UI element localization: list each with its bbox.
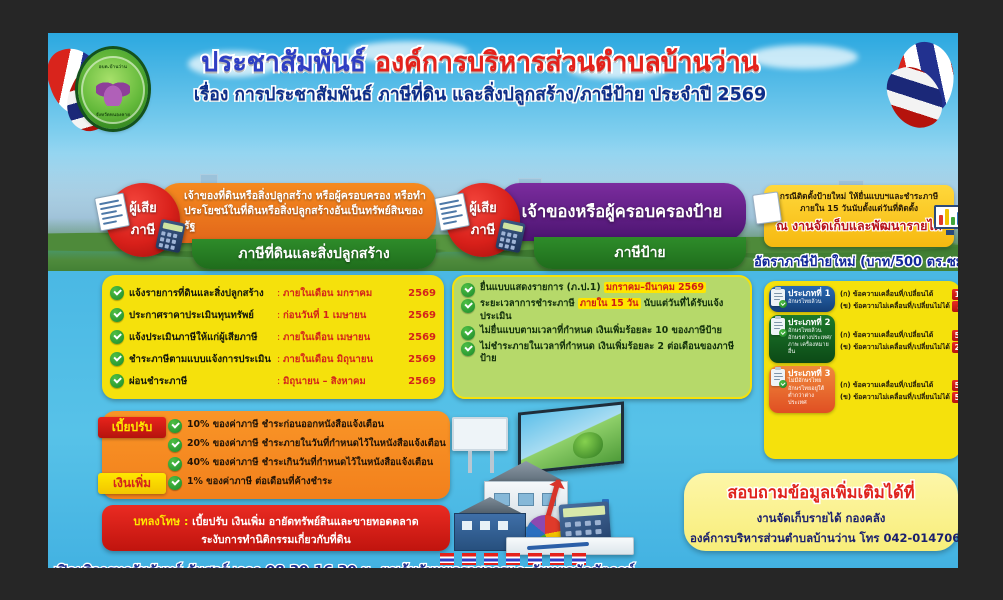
rule-text-pre: ยื่นแบบแสดงรายการ (ภ.ป.1) [480,282,604,293]
check-icon [168,419,182,433]
office-hours-text: เปิดบริการทุกวันจันทร์-วันศุกร์ เวลา 08.… [54,559,635,568]
rate-table-title: อัตราภาษีป้ายใหม่ (บาท/500 ตร.ซม.) [754,251,958,272]
rule-highlight: ภายใน 15 วัน [578,298,641,309]
fine-label-badge: เบี้ยปรับ [98,417,166,438]
check-icon [461,283,475,297]
check-icon [168,438,182,452]
list-item: ไม่ยื่นแบบตามเวลาที่กำหนด เงินเพิ่มร้อยล… [461,325,743,340]
rate-item-text: (ก) ข้อความเคลื่อนที่/เปลี่ยนได้ [840,380,950,391]
notice-line-1: กรณีติดตั้งป้ายใหม่ ให้ยื่นแบบฯและชำระภา… [768,190,950,202]
schedule-label: ผ่อนชำระภาษี [129,374,277,389]
penalty-text: 1% ของค่าภาษี ต่อเดือนที่ค้างชำระ [187,476,332,488]
title-part-2: องค์การบริหารส่วนตำบลบ้านว่าน [375,47,759,78]
rate-type-name: ประเภทที่ 3 [788,369,832,379]
check-icon [168,457,182,471]
schedule-date: ภายในเดือน มกราคม [283,286,404,301]
schedule-date: ก่อนวันที่ 1 เมษายน [283,308,404,323]
rule-text-pre: ไม่ชำระภายในเวลาที่กำหนด เงินเพิ่มร้อยละ… [480,341,734,365]
table-row: แจ้งรายการที่ดินและสิ่งปลูกสร้าง : ภายใน… [110,282,436,304]
rate-item-text: (ข) ข้อความไม่เคลื่อนที่/เปลี่ยนไม่ได้ [840,392,950,403]
rate-item: (ข) ข้อความไม่เคลื่อนที่/เปลี่ยนไม่ได้ 5… [840,392,958,404]
schedule-year: 2569 [404,288,436,299]
sign-tax-payer-banner: เจ้าของหรือผู้ครอบครองป้าย ภาษีป้าย ผู้เ… [446,183,746,271]
poster-canvas: อบต.บ้านว่าน จังหวัดหนองคาย ประชาสัมพันธ… [48,33,958,568]
rate-item-text: (ข) ข้อความไม่เคลื่อนที่/เปลี่ยนไม่ได้ [840,301,950,312]
organization-logo: อบต.บ้านว่าน จังหวัดหนองคาย [70,45,156,135]
document-icon [752,191,782,224]
rate-item-text: (ก) ข้อความเคลื่อนที่/เปลี่ยนได้ [840,289,950,300]
rate-item: (ข) ข้อความไม่เคลื่อนที่/เปลี่ยนไม่ได้ 2… [840,341,958,353]
schedule-year: 2569 [404,310,436,321]
list-item: 40% ของค่าภาษี ชำระเกินวันที่กำหนดไว้ในห… [168,457,433,471]
check-icon [461,299,475,313]
land-tax-type-label: ภาษีที่ดินและสิ่งปลูกสร้าง [192,239,436,269]
punishment-panel: บทลงโทษ : เบี้ยปรับ เงินเพิ่ม อายัดทรัพย… [102,505,450,551]
check-icon [110,374,124,388]
notice-line-2: ภายใน 15 วันนับตั้งแต่วันที่ติดตั้ง [768,202,950,214]
surcharge-label-badge: เงินเพิ่ม [98,473,166,494]
rate-item-value: 5 [952,301,958,312]
sign-payer-description: เจ้าของหรือผู้ครอบครองป้าย [498,183,746,241]
list-item: 20% ของค่าภาษี ชำระภายในวันที่กำหนดไว้ใน… [168,438,446,452]
rate-item-value: 52 [952,330,958,341]
office-hours-bar: เปิดบริการทุกวันจันทร์-วันศุกร์ เวลา 08.… [48,555,958,568]
page-subtitle: เรื่อง การประชาสัมพันธ์ ภาษีที่ดิน และสิ… [160,80,800,108]
calculator-icon [495,219,526,254]
punishment-label: บทลงโทษ : [133,515,188,528]
document-icon [434,192,470,231]
rate-type-3: ประเภทที่ 3 ไม่มีอักษรไทย อักษรไทยอยู่ใต… [769,366,835,414]
list-item: 1% ของค่าภาษี ต่อเดือนที่ค้างชำระ [168,476,332,490]
list-item: ระยะเวลาการชำระภาษี ภายใน 15 วัน นับแต่ว… [461,298,743,324]
rate-type-name: ประเภทที่ 1 [788,289,832,299]
schedule-date: ภายในเดือน เมษายน [283,330,404,345]
table-row: ประเภทที่ 3 ไม่มีอักษรไทย อักษรไทยอยู่ใต… [769,366,955,414]
rate-type-desc: อักษรไทยล้วน อักษรต่างประเทศ/ภาพ เครื่อง… [788,328,832,357]
rate-item-value: 52 [952,380,958,391]
schedule-label: ชำระภาษีตามแบบแจ้งการประเมิน [129,352,277,367]
clipboard-check-icon [771,289,785,306]
table-row: ประเภทที่ 2 อักษรไทยล้วน อักษรต่างประเทศ… [769,315,955,363]
sign-tax-rules-panel: ยื่นแบบแสดงรายการ (ภ.ป.1) มกราคม–มีนาคม … [452,275,752,399]
rate-item: (ก) ข้อความเคลื่อนที่/เปลี่ยนได้ 52 [840,329,958,341]
new-sign-notice-box: กรณีติดตั้งป้ายใหม่ ให้ยื่นแบบฯและชำระภา… [764,185,954,247]
check-icon [110,330,124,344]
contact-organization: องค์การบริหารส่วนตำบลบ้านว่าน โทร 042-01… [690,530,952,548]
clipboard-check-icon [771,369,785,386]
schedule-label: ประกาศราคาประเมินทุนทรัพย์ [129,308,277,323]
rate-type-desc: อักษรไทยล้วน [788,299,832,306]
contact-heading: สอบถามข้อมูลเพิ่มเติมได้ที่ [690,480,952,506]
penalty-text: 10% ของค่าภาษี ชำระก่อนออกหนังสือแจ้งเตื… [187,419,384,431]
table-row: แจ้งประเมินภาษีให้แก่ผู้เสียภาษี : ภายใน… [110,326,436,348]
check-icon [110,352,124,366]
land-payer-description: เจ้าของที่ดินหรือสิ่งปลูกสร้าง หรือผู้คร… [158,183,436,243]
schedule-date: มิถุนายน – สิงหาคม [283,374,404,389]
thai-flag-ribbon-right [892,41,958,133]
table-row: ประกาศราคาประเมินทุนทรัพย์ : ก่อนวันที่ … [110,304,436,326]
notice-line-3: ณ งานจัดเก็บและพัฒนารายได้ [768,216,950,236]
schedule-year: 2569 [404,332,436,343]
list-item: 10% ของค่าภาษี ชำระก่อนออกหนังสือแจ้งเตื… [168,419,384,433]
illustration-group [452,405,692,555]
table-row: ชำระภาษีตามแบบแจ้งการประเมิน : ภายในเดือ… [110,348,436,370]
rate-type-desc: ไม่มีอักษรไทย อักษรไทยอยู่ใต้ ต่ำกว่าต่า… [788,378,832,407]
rate-type-1: ประเภทที่ 1 อักษรไทยล้วน [769,286,835,312]
sign-tax-type-label: ภาษีป้าย [534,237,746,269]
rate-type-2: ประเภทที่ 2 อักษรไทยล้วน อักษรต่างประเทศ… [769,315,835,363]
list-item: ยื่นแบบแสดงรายการ (ภ.ป.1) มกราคม–มีนาคม … [461,282,743,297]
penalty-text: 40% ของค่าภาษี ชำระเกินวันที่กำหนดไว้ในห… [187,457,433,469]
penalty-text: 20% ของค่าภาษี ชำระภายในวันที่กำหนดไว้ใน… [187,438,446,450]
contact-box: สอบถามข้อมูลเพิ่มเติมได้ที่ งานจัดเก็บรา… [684,473,958,551]
rate-item-text: (ข) ข้อความไม่เคลื่อนที่/เปลี่ยนไม่ได้ [840,342,950,353]
check-icon [168,476,182,490]
check-icon [461,342,475,356]
monitor-chart-icon [934,205,958,235]
rate-item: (ก) ข้อความเคลื่อนที่/เปลี่ยนได้ 10 [840,288,958,300]
rate-item: (ก) ข้อความเคลื่อนที่/เปลี่ยนได้ 52 [840,380,958,392]
logo-top-text: อบต.บ้านว่าน [81,63,145,70]
schedule-date: ภายในเดือน มิถุนายน [283,352,404,367]
check-icon [110,308,124,322]
check-icon [461,326,475,340]
schedule-year: 2569 [404,354,436,365]
clipboard-check-icon [771,318,785,335]
rate-item-value: 26 [952,342,958,353]
rule-text-pre: ไม่ยื่นแบบตามเวลาที่กำหนด เงินเพิ่มร้อยล… [480,325,722,336]
schedule-year: 2569 [404,376,436,387]
table-row: ผ่อนชำระภาษี : มิถุนายน – สิงหาคม 2569 [110,370,436,392]
blank-billboard-icon [452,417,508,451]
sign-tax-rate-table: ประเภทที่ 1 อักษรไทยล้วน (ก) ข้อความเคลื… [764,281,958,459]
check-icon [110,286,124,300]
punishment-text-line2: ระงับการทำนิติกรรมเกี่ยวกับที่ดิน [110,531,442,548]
contact-office: งานจัดเก็บรายได้ กองคลัง [690,510,952,528]
logo-bottom-text: จังหวัดหนองคาย [81,111,145,118]
rule-text-pre: ระยะเวลาการชำระภาษี [480,298,578,309]
penalty-panel: เบี้ยปรับ เงินเพิ่ม 10% ของค่าภาษี ชำระก… [102,411,450,499]
list-item: ไม่ชำระภายในเวลาที่กำหนด เงินเพิ่มร้อยละ… [461,341,743,367]
title-part-1: ประชาสัมพันธ์ [201,47,375,78]
table-row: ประเภทที่ 1 อักษรไทยล้วน (ก) ข้อความเคลื… [769,286,955,312]
document-icon [94,192,130,231]
logo-emblem-icon [96,76,130,106]
rate-item-value: 10 [952,289,958,300]
rate-item-value: 50 [952,392,958,403]
punishment-text: เบี้ยปรับ เงินเพิ่ม อายัดทรัพย์สินและขาย… [188,516,418,528]
land-tax-schedule-panel: แจ้งรายการที่ดินและสิ่งปลูกสร้าง : ภายใน… [102,275,444,399]
land-tax-payer-banner: เจ้าของที่ดินหรือสิ่งปลูกสร้าง หรือผู้คร… [106,183,436,271]
rate-type-name: ประเภทที่ 2 [788,318,832,328]
rate-item: (ข) ข้อความไม่เคลื่อนที่/เปลี่ยนไม่ได้ 5 [840,300,958,312]
page-title: ประชาสัมพันธ์ องค์การบริหารส่วนตำบลบ้านว… [160,49,800,108]
schedule-label: แจ้งประเมินภาษีให้แก่ผู้เสียภาษี [129,330,277,345]
rate-item-text: (ก) ข้อความเคลื่อนที่/เปลี่ยนได้ [840,330,950,341]
calculator-icon [155,219,186,254]
schedule-label: แจ้งรายการที่ดินและสิ่งปลูกสร้าง [129,286,277,301]
rule-highlight: มกราคม–มีนาคม 2569 [604,282,706,293]
